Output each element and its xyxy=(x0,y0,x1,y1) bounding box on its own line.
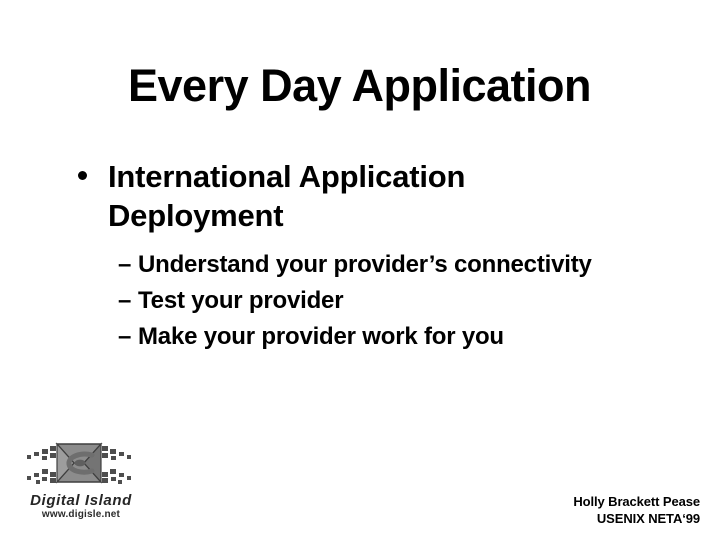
digital-island-logo: Digital Island www.digisle.net xyxy=(20,435,142,521)
page-title: Every Day Application xyxy=(0,62,719,110)
bullet-text: Understand your provider’s connectivity xyxy=(138,251,592,278)
footer-author: Holly Brackett Pease xyxy=(573,493,700,510)
digital-island-mark-icon xyxy=(20,435,138,491)
list-item: – Make your provider work for you xyxy=(118,319,672,355)
bullet-text: Test your provider xyxy=(138,287,343,314)
logo-wordmark: Digital Island xyxy=(20,492,142,509)
footer-attribution: Holly Brackett Pease USENIX NETA‘99 xyxy=(573,493,700,527)
list-item: – Test your provider xyxy=(118,283,672,319)
list-item: International Application Deployment xyxy=(72,157,528,235)
en-dash-icon: – xyxy=(118,319,131,355)
en-dash-icon: – xyxy=(118,283,131,319)
bullet-text: International Application Deployment xyxy=(108,159,465,233)
en-dash-icon: – xyxy=(118,247,131,283)
bullet-text: Make your provider work for you xyxy=(138,323,504,350)
slide-canvas: Every Day Application International Appl… xyxy=(0,0,719,539)
sub-bullet-list: – Understand your provider’s connectivit… xyxy=(72,247,672,355)
list-item: – Understand your provider’s connectivit… xyxy=(118,247,672,283)
logo-url: www.digisle.net xyxy=(20,509,142,521)
footer-event: USENIX NETA‘99 xyxy=(573,510,700,527)
bullet-dot-icon xyxy=(78,171,87,180)
content-body: International Application Deployment – U… xyxy=(72,157,672,355)
